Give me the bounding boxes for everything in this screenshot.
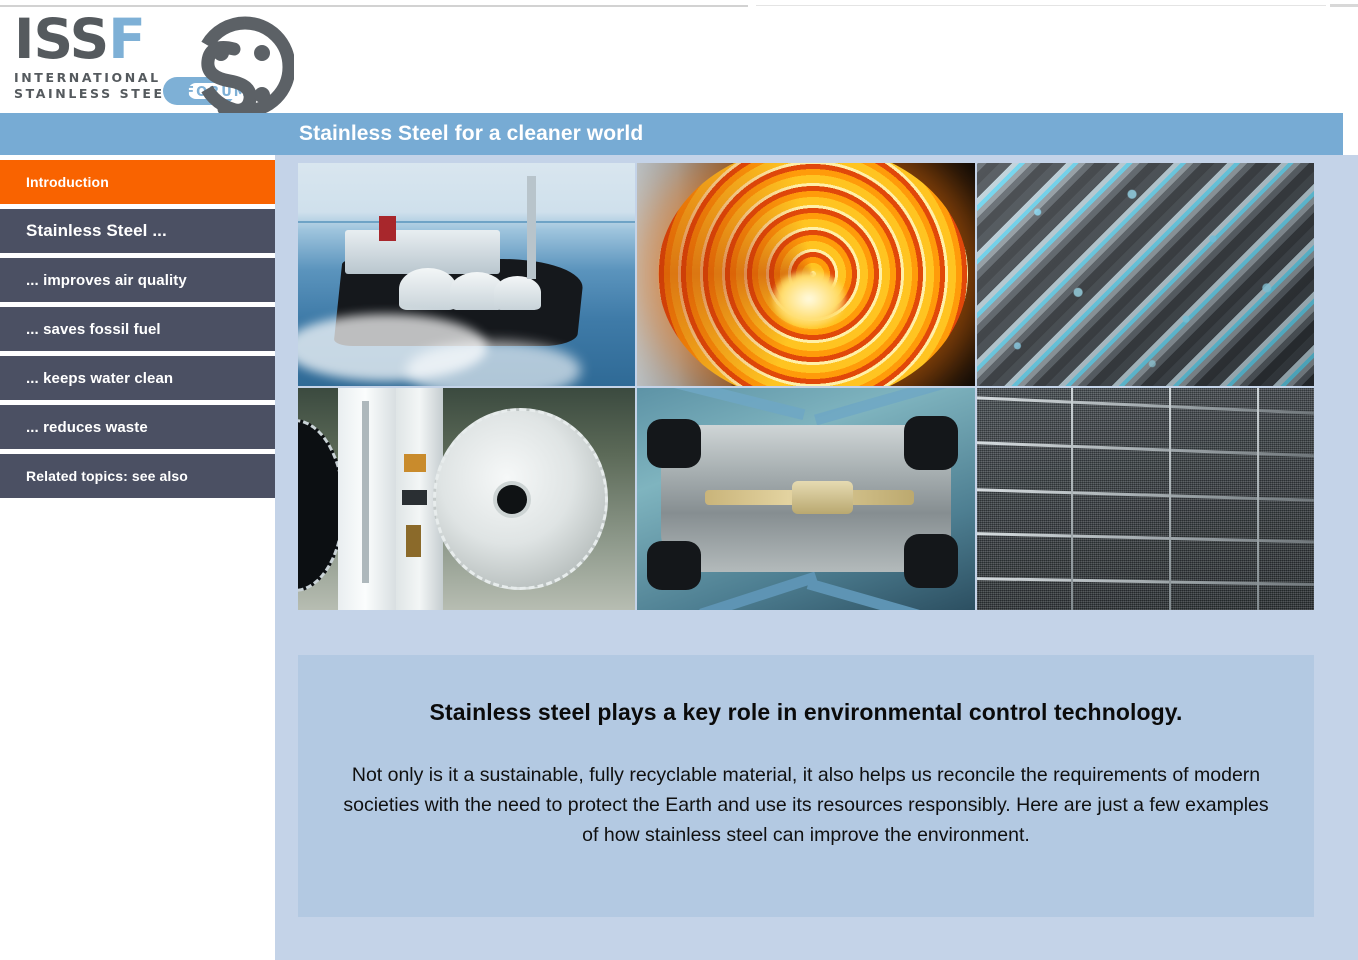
browser-chrome-strip	[0, 0, 1358, 7]
car-tyre	[904, 534, 958, 587]
logo-wordmark-f: F	[108, 7, 145, 71]
mesh-frame-rail	[977, 441, 1314, 457]
lift-arm	[665, 388, 805, 421]
gallery-image-car-underbody-exhaust-system	[637, 388, 974, 611]
ship-mast	[527, 176, 535, 278]
image-gallery	[298, 163, 1314, 610]
sidebar-item-improves-air-quality[interactable]: ... improves air quality	[0, 258, 275, 302]
gallery-image-glowing-spiral-heating-element	[637, 163, 974, 386]
sidebar-item-label: ... reduces waste	[0, 419, 148, 436]
logo-wordmark-iss: ISS	[14, 7, 108, 71]
sidebar-item-label: Stainless Steel ...	[0, 221, 167, 241]
lift-arm	[699, 571, 818, 610]
info-label	[402, 490, 427, 506]
spiral-hot-core	[772, 270, 846, 328]
lng-tank-dome	[494, 276, 541, 309]
sidebar-item-reduces-waste[interactable]: ... reduces waste	[0, 405, 275, 449]
mesh-frame-rail	[977, 396, 1314, 415]
page-title-bar: Stainless Steel for a cleaner world	[0, 113, 1343, 155]
warning-label	[406, 525, 421, 556]
car-tyre	[647, 541, 701, 590]
sidebar-item-label: ... keeps water clean	[0, 370, 173, 387]
sea-horizon	[298, 221, 635, 223]
sidebar-item-keeps-water-clean[interactable]: ... keeps water clean	[0, 356, 275, 400]
sidebar-item-related-topics[interactable]: Related topics: see also	[0, 454, 275, 498]
sidebar-item-label: ... saves fossil fuel	[0, 321, 161, 338]
page-title: Stainless Steel for a cleaner world	[299, 122, 643, 146]
sidebar-nav: Introduction Stainless Steel ... ... imp…	[0, 160, 275, 960]
lift-arm	[807, 579, 920, 610]
mesh-frame-rail	[977, 577, 1314, 586]
gallery-image-lng-carrier-ship-at-sea	[298, 163, 635, 386]
sidebar-item-saves-fossil-fuel[interactable]: ... saves fossil fuel	[0, 307, 275, 351]
sidebar-item-label: Introduction	[0, 174, 109, 190]
car-tyre	[647, 419, 701, 468]
mesh-frame-post	[1257, 388, 1259, 611]
car-tyre	[904, 416, 958, 469]
hazard-label	[404, 454, 426, 472]
gallery-image-stainless-storage-tank-heads	[298, 388, 635, 611]
intro-paragraph: Not only is it a sustainable, fully recy…	[334, 760, 1279, 850]
gallery-image-stainless-mesh-filter-panels	[977, 388, 1314, 611]
intro-heading: Stainless steel plays a key role in envi…	[430, 699, 1183, 726]
main-content: Stainless steel plays a key role in envi…	[275, 155, 1358, 960]
mesh-frame-post	[1169, 388, 1171, 611]
page-root: ISSF INTERNATIONAL STAINLESS STEEL FORUM…	[0, 0, 1358, 960]
mesh-frame-rail	[977, 488, 1314, 502]
tube-shading	[977, 163, 1314, 386]
level-gauge	[362, 401, 369, 583]
mesh-frame-post	[1071, 388, 1073, 611]
sidebar-item-stainless-steel[interactable]: Stainless Steel ...	[0, 209, 275, 253]
issf-logo[interactable]: ISSF INTERNATIONAL STAINLESS STEEL FORUM	[14, 12, 284, 110]
mesh-frame-rail	[977, 532, 1314, 544]
sidebar-item-label: Related topics: see also	[0, 468, 188, 484]
chrome-edge-corner	[1330, 4, 1358, 7]
sidebar-item-introduction[interactable]: Introduction	[0, 160, 275, 204]
lng-tank-dome	[399, 268, 456, 310]
exhaust-muffler	[792, 481, 853, 514]
issf-circle-mark-icon: FORUM	[142, 15, 294, 121]
chrome-tab-edge-right	[756, 5, 1326, 6]
intro-text-card: Stainless steel plays a key role in envi…	[298, 655, 1314, 917]
sidebar-item-label: ... improves air quality	[0, 272, 187, 289]
gallery-image-wet-diagonal-condenser-tubes	[977, 163, 1314, 386]
ship-funnel	[379, 216, 396, 240]
